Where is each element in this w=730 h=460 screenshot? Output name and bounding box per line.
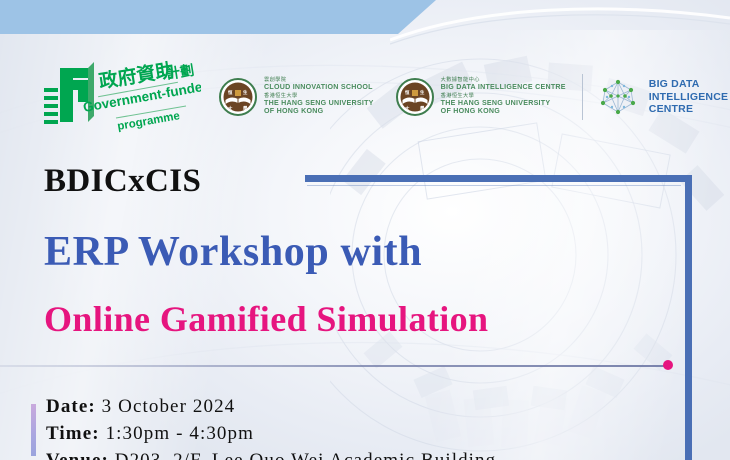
bdic-seal-logo-text: 大數據智能中心 BIG DATA INTELLIGENCE CENTRE 香港恒… <box>441 78 566 115</box>
poster-title-main: ERP Workshop with <box>44 228 422 276</box>
top-blue-band <box>0 0 436 34</box>
date-value: 3 October 2024 <box>102 396 236 417</box>
event-details: Date: 3 October 2024 Time: 1:30pm - 4:30… <box>46 394 496 460</box>
network-node-icon <box>595 76 641 118</box>
svg-text:學: 學 <box>243 105 248 112</box>
magenta-dot-accent <box>663 360 673 370</box>
logo-row: 政府資助 計劃 Government-funded programme 恒生 大… <box>0 56 730 138</box>
details-accent-bar <box>31 404 36 456</box>
svg-text:生: 生 <box>243 89 248 96</box>
hsu-seal-icon-2: 恒生 大學 <box>396 78 434 116</box>
hsu-seal-icon: 恒生 大學 <box>219 78 257 116</box>
venue-value: D203, 2/F, Lee Quo Wei Academic Building <box>115 450 497 460</box>
svg-text:恒: 恒 <box>405 89 410 96</box>
top-curve-accent <box>390 0 730 46</box>
detail-row-venue: Venue: D203, 2/F, Lee Quo Wei Academic B… <box>46 448 496 460</box>
cloud-innovation-school-logo: 恒生 大學 雲創學院 CLOUD INNOVATION SCHOOL 香港恒生大… <box>219 78 374 116</box>
horizontal-rule <box>0 365 668 367</box>
svg-text:學: 學 <box>420 105 425 112</box>
poster-title-sub: Online Gamified Simulation <box>44 298 488 340</box>
detail-row-date: Date: 3 October 2024 <box>46 394 496 421</box>
event-poster: 政府資助 計劃 Government-funded programme 恒生 大… <box>0 0 730 460</box>
bdic-seal-logo: 恒生 大學 大數據智能中心 BIG DATA INTELLIGENCE CENT… <box>396 78 566 116</box>
frame-top-border <box>305 175 692 182</box>
bdic-wordmark-logo: BIG DATA INTELLIGENCE CENTRE <box>595 76 728 118</box>
frame-inner-hairline <box>307 185 681 186</box>
detail-row-time: Time: 1:30pm - 4:30pm <box>46 421 496 448</box>
bdic-wordmark-line2: INTELLIGENCE <box>649 91 728 103</box>
bdic-wordmark-line1: BIG DATA <box>649 78 728 90</box>
cis-en-org: CLOUD INNOVATION SCHOOL <box>264 84 374 92</box>
svg-text:生: 生 <box>420 89 425 96</box>
poster-kicker: BDICxCIS <box>44 163 201 200</box>
cis-logo-text: 雲創學院 CLOUD INNOVATION SCHOOL 香港恒生大學 THE … <box>264 78 374 115</box>
bdic-en-univ-line2: OF HONG KONG <box>441 108 566 116</box>
bdic-wordmark-text: BIG DATA INTELLIGENCE CENTRE <box>649 78 728 115</box>
bdic-en-org: BIG DATA INTELLIGENCE CENTRE <box>441 84 566 92</box>
cis-en-univ-line2: OF HONG KONG <box>264 108 374 116</box>
logo-divider <box>582 74 583 120</box>
time-value: 1:30pm - 4:30pm <box>106 423 254 444</box>
time-label: Time: <box>46 423 100 444</box>
gov-logo-en-line2: programme <box>116 110 180 133</box>
bdic-wordmark-line3: CENTRE <box>649 103 728 115</box>
venue-label: Venue: <box>46 450 109 460</box>
svg-text:大: 大 <box>405 105 410 112</box>
svg-text:大: 大 <box>228 105 233 112</box>
svg-text:恒: 恒 <box>228 89 233 96</box>
date-label: Date: <box>46 396 96 417</box>
frame-right-border <box>685 175 692 460</box>
government-funded-logo: 政府資助 計劃 Government-funded programme <box>26 58 201 136</box>
